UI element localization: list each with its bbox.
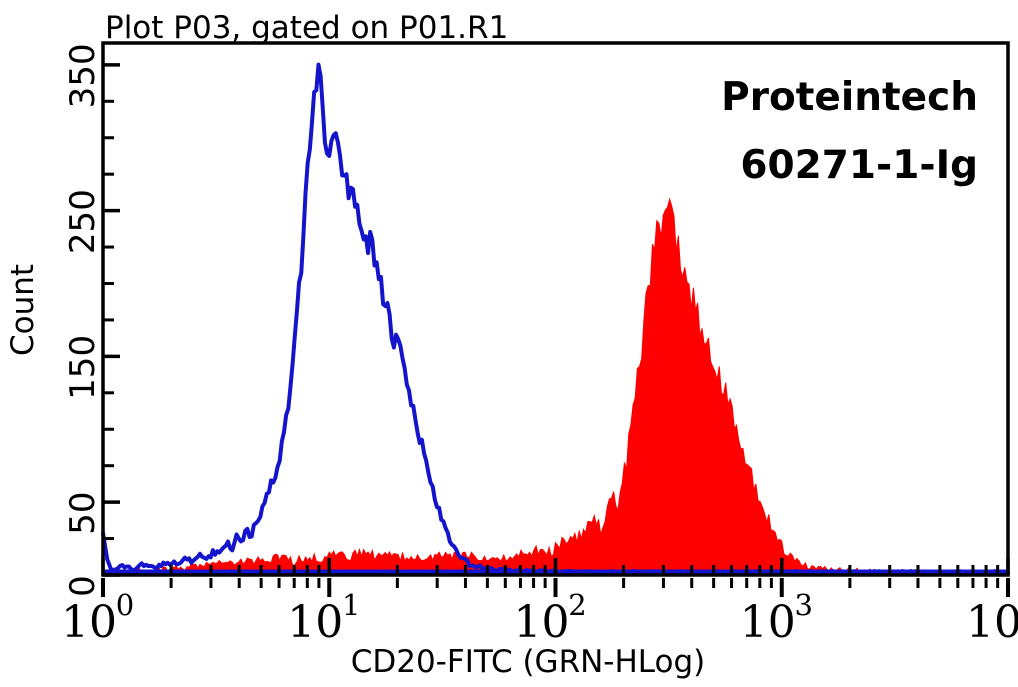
watermark-catalog-number: 60271-1-Ig (740, 143, 978, 188)
watermark-brand: Proteintech (721, 75, 978, 120)
x-tick-mantissa: 10 (61, 597, 117, 648)
x-tick-mantissa: 10 (514, 597, 570, 648)
x-tick-mantissa: 10 (287, 597, 343, 648)
y-tick-label: 350 (63, 43, 103, 108)
plot-title: Plot P03, gated on P01.R1 (105, 10, 508, 46)
y-tick-label: 150 (63, 335, 103, 400)
x-tick-exponent: 2 (568, 588, 586, 622)
x-axis-title: CD20-FITC (GRN-HLog) (351, 644, 706, 680)
y-tick-label: 250 (63, 189, 103, 254)
y-axis-title: Count (5, 264, 41, 356)
x-tick-label-group: 104 (966, 588, 1018, 648)
x-tick-mantissa: 10 (966, 597, 1018, 648)
y-tick-label: 50 (63, 491, 103, 534)
x-tick-exponent: 3 (795, 588, 813, 622)
x-tick-exponent: 0 (116, 588, 134, 622)
flow-cytometry-histogram: 050150250350 100101102103104 Plot P03, g… (0, 0, 1018, 687)
plot-canvas: 050150250350 100101102103104 Plot P03, g… (0, 0, 1018, 687)
x-tick-mantissa: 10 (740, 597, 796, 648)
x-tick-exponent: 1 (342, 588, 360, 622)
y-tick-label: 0 (63, 575, 103, 597)
